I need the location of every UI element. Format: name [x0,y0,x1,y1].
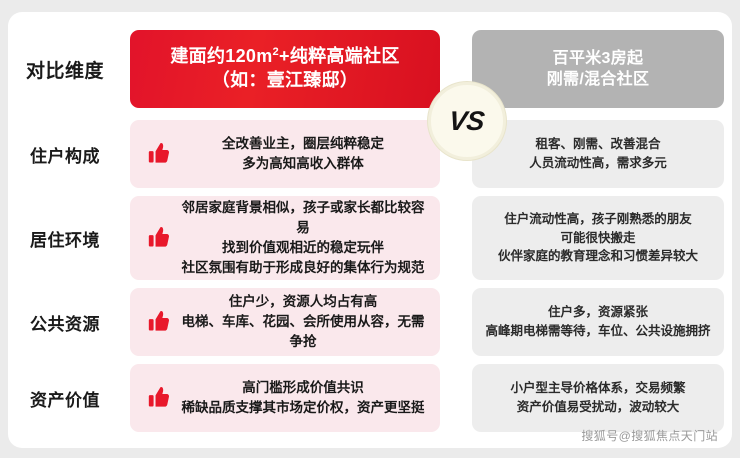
left-cell-3-line-1: 稀缺品质支撑其市场定价权，资产更坚挺 [182,398,425,418]
row-label-1: 居住环境 [8,196,122,280]
row-label-2: 公共资源 [8,288,122,356]
left-cell-2-line-1: 电梯、车库、花园、会所使用从容，无需争抢 [176,312,430,353]
row-label-0: 住户构成 [8,120,122,188]
left-cell-1: 邻居家庭背景相似，孩子或家长都比较容易 找到价值观相近的稳定玩伴 社区氛围有助于… [130,196,440,280]
versus-label: VS [448,106,486,137]
table-row: 公共资源 住户少，资源人均占有高 电梯、车库、花园、会所使用从容，无需争抢 住户… [8,288,732,356]
right-cell-1: 住户流动性高，孩子刚熟悉的朋友 可能很快搬走 伙伴家庭的教育理念和习惯差异较大 [472,196,724,280]
right-cell-3-line-1: 资产价值易受扰动，波动较大 [510,398,685,417]
right-cell-2-line-0: 住户多，资源紧张 [485,303,710,322]
right-cell-2-line-1: 高峰期电梯需等待，车位、公共设施拥挤 [485,322,710,341]
left-cell-0-line-1: 多为高知高收入群体 [222,154,384,174]
right-cell-1-line-1: 可能很快搬走 [498,229,698,248]
thumbs-up-icon [146,225,172,251]
table-header-row: 对比维度 建面约120m2+纯粹高端社区 （如：壹江臻邸） 百平米3房起 刚需/… [8,30,732,108]
spacer [122,196,130,280]
spacer [440,288,472,356]
right-column-header: 百平米3房起 刚需/混合社区 [472,30,724,108]
right-cell-3: 小户型主导价格体系，交易频繁 资产价值易受扰动，波动较大 [472,364,724,432]
spacer [122,288,130,356]
thumbs-up-icon [146,141,172,167]
table-row: 住户构成 全改善业主，圈层纯粹稳定 多为高知高收入群体 租客、刚需、改善混合 人… [8,120,732,188]
right-cell-2: 住户多，资源紧张 高峰期电梯需等待，车位、公共设施拥挤 [472,288,724,356]
left-cell-2-line-0: 住户少，资源人均占有高 [176,292,430,312]
comparison-card: 对比维度 建面约120m2+纯粹高端社区 （如：壹江臻邸） 百平米3房起 刚需/… [8,12,732,448]
table-row: 资产价值 高门槛形成价值共识 稀缺品质支撑其市场定价权，资产更坚挺 小户型主导价… [8,364,732,432]
thumbs-up-icon [146,309,172,335]
right-cell-1-line-2: 伙伴家庭的教育理念和习惯差异较大 [498,247,698,266]
left-cell-1-line-2: 社区氛围有助于形成良好的集体行为规范 [176,258,430,278]
right-cell-3-line-0: 小户型主导价格体系，交易频繁 [510,379,685,398]
right-cell-1-line-0: 住户流动性高，孩子刚熟悉的朋友 [498,210,698,229]
spacer [122,364,130,432]
right-column-title-line2: 刚需/混合社区 [547,69,650,90]
left-cell-0: 全改善业主，圈层纯粹稳定 多为高知高收入群体 [130,120,440,188]
right-cell-0-line-1: 人员流动性高，需求多元 [529,154,667,173]
table-row: 居住环境 邻居家庭背景相似，孩子或家长都比较容易 找到价值观相近的稳定玩伴 社区… [8,196,732,280]
right-cell-0-line-0: 租客、刚需、改善混合 [529,135,667,154]
left-cell-0-line-0: 全改善业主，圈层纯粹稳定 [222,134,384,154]
right-column-title-line1: 百平米3房起 [547,48,650,69]
versus-badge: VS [428,82,506,160]
right-cell-0: 租客、刚需、改善混合 人员流动性高，需求多元 [472,120,724,188]
left-column-header: 建面约120m2+纯粹高端社区 （如：壹江臻邸） [130,30,440,108]
dimension-header-label: 对比维度 [8,30,122,108]
left-cell-2: 住户少，资源人均占有高 电梯、车库、花园、会所使用从容，无需争抢 [130,288,440,356]
comparison-table: 对比维度 建面约120m2+纯粹高端社区 （如：壹江臻邸） 百平米3房起 刚需/… [8,12,732,448]
thumbs-up-icon [146,385,172,411]
spacer [440,364,472,432]
left-column-title-line2: （如：壹江臻邸） [170,69,399,93]
spacer [440,196,472,280]
spacer [122,120,130,188]
left-cell-1-line-0: 邻居家庭背景相似，孩子或家长都比较容易 [176,198,430,239]
left-column-title-line1: 建面约120m2+纯粹高端社区 [170,45,399,69]
left-cell-3: 高门槛形成价值共识 稀缺品质支撑其市场定价权，资产更坚挺 [130,364,440,432]
left-cell-1-line-1: 找到价值观相近的稳定玩伴 [176,238,430,258]
row-label-3: 资产价值 [8,364,122,432]
watermark: 搜狐号@搜狐焦点天门站 [581,427,718,444]
left-cell-3-line-0: 高门槛形成价值共识 [182,378,425,398]
spacer [122,30,130,108]
